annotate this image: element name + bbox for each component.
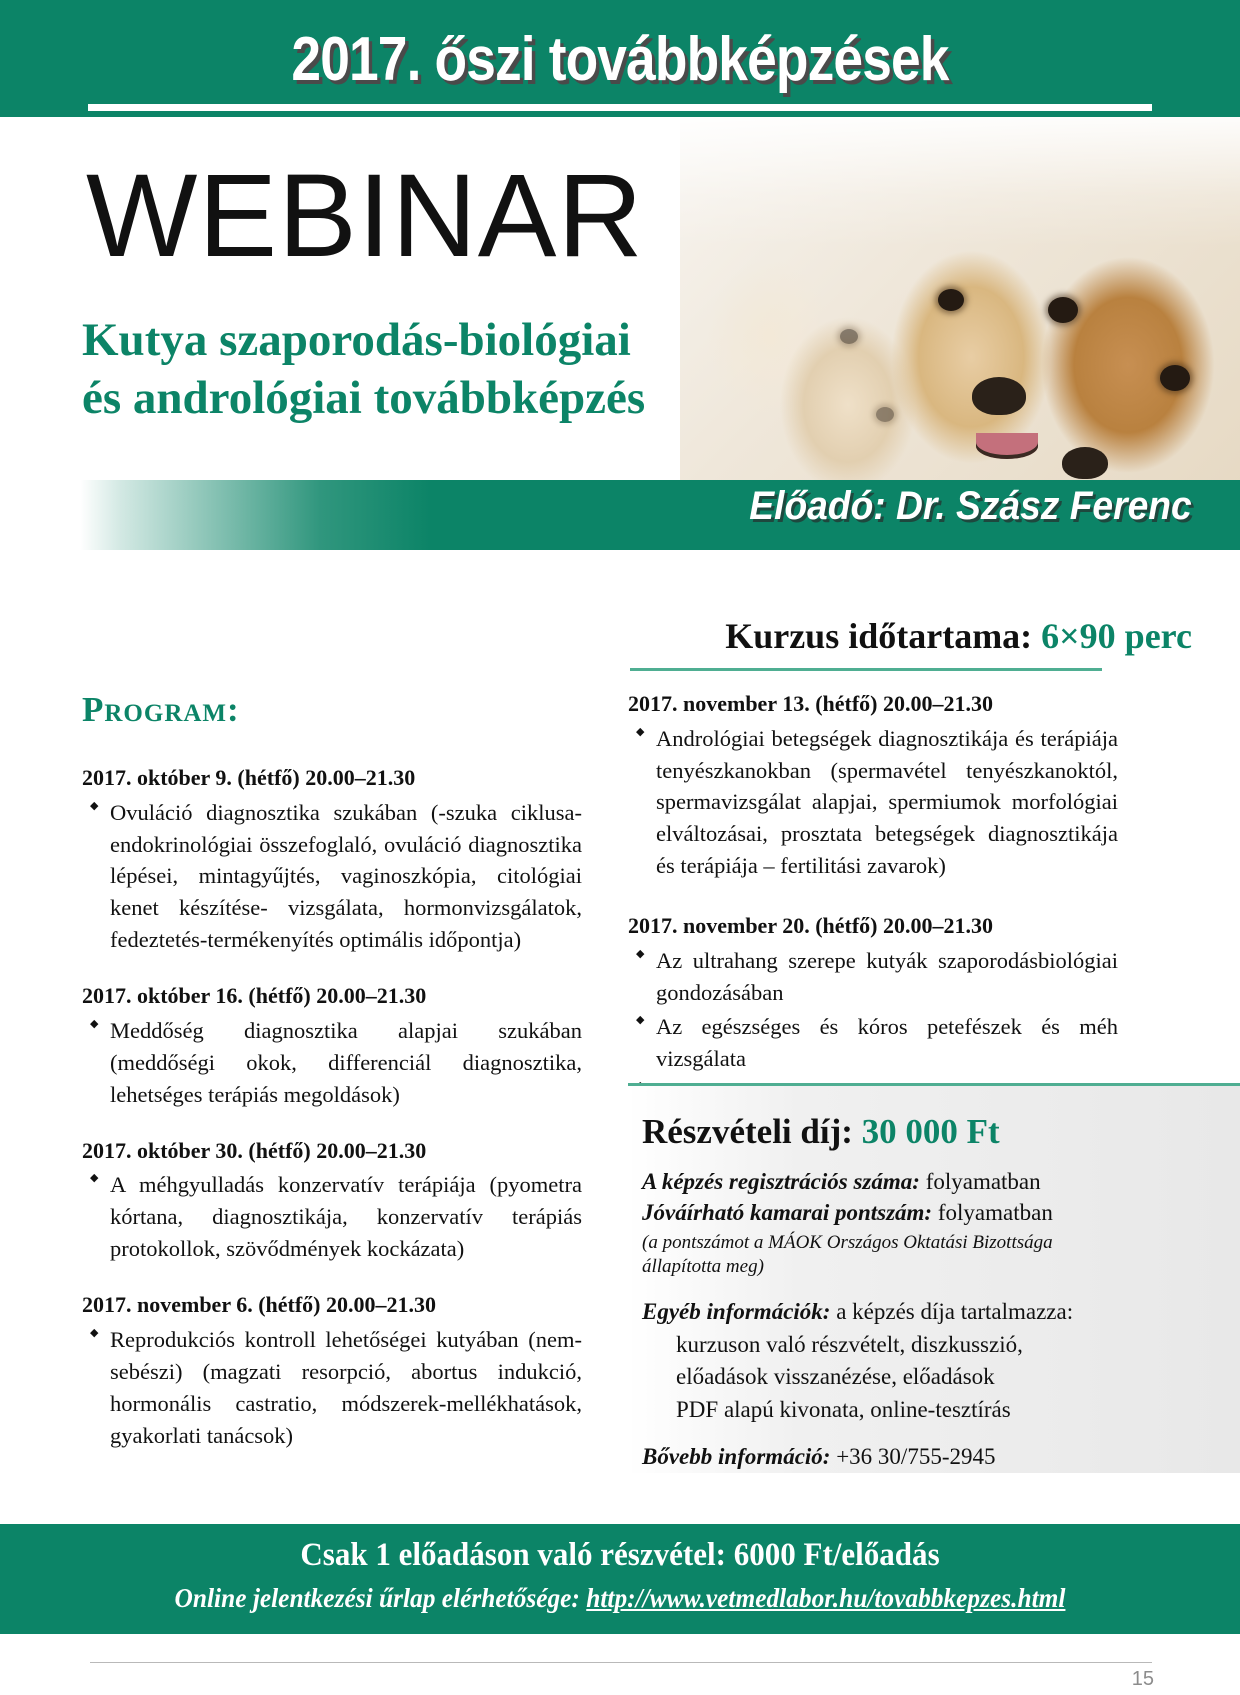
program-session: 2017. november 6. (hétfő) 20.00–21.30 Re… [82,1291,582,1451]
registration-form-link[interactable]: http://www.vetmedlabor.hu/tovabbkepzes.h… [586,1583,1065,1613]
program-session: 2017. október 9. (hétfő) 20.00–21.30 Ovu… [82,764,582,956]
chamber-points-note: (a pontszámot a MÁOK Országos Oktatási B… [642,1231,1240,1280]
contact-line: Bővebb információ: +36 30/755-2945 [642,1441,1240,1473]
registration-number-line: A képzés regisztrációs száma: folyamatba… [642,1166,1240,1197]
other-info-line2: előadások visszanézése, előadások [676,1361,1240,1394]
program-session: 2017. november 13. (hétfő) 20.00–21.30 A… [628,690,1118,882]
hero-subtitle-line2: és andrológiai továbbképzés [82,370,842,428]
fee-box: Részvételi díj: 30 000 Ft A képzés regis… [628,1083,1240,1473]
session-date: 2017. november 6. (hétfő) 20.00–21.30 [82,1291,582,1320]
other-info-value: a képzés díja tartalmazza: [836,1299,1073,1324]
top-banner-divider [88,104,1152,111]
registration-number-label: A képzés regisztrációs száma: [642,1169,920,1194]
course-duration-label: Kurzus időtartama: [725,616,1032,656]
chamber-points-note-line2: állapította meg) [642,1255,1240,1280]
session-bullet: Az egészséges és kóros petefészek és méh… [628,1011,1118,1075]
course-duration-value: 6×90 perc [1041,616,1192,656]
chamber-points-note-line1: (a pontszámot a MÁOK Országos Oktatási B… [642,1231,1240,1256]
fee-amount: 30 000 Ft [862,1112,1000,1151]
page-number: 15 [1132,1668,1154,1691]
session-bullets: Reprodukciós kontroll lehetőségei kutyáb… [82,1324,582,1452]
program-session: 2017. október 30. (hétfő) 20.00–21.30 A … [82,1137,582,1265]
session-bullets: Ovuláció diagnosztika szukában (-szuka c… [82,797,582,957]
speaker-name: Előadó: Dr. Szász Ferenc [750,484,1192,529]
chamber-points-line: Jóváírható kamarai pontszám: folyamatban [642,1197,1240,1228]
registration-number-value: folyamatban [926,1169,1041,1194]
hero-kicker: WEBINAR [86,157,644,275]
program-session: 2017. október 16. (hétfő) 20.00–21.30 Me… [82,982,582,1110]
program-left-column: Program: 2017. október 9. (hétfő) 20.00–… [82,690,582,1477]
course-duration: Kurzus időtartama: 6×90 perc [725,615,1192,657]
session-bullet: A méhgyulladás konzervatív terápiája (py… [82,1169,582,1265]
other-info-line3: PDF alapú kivonata, online-tesztírás [676,1394,1240,1427]
contact-phone: +36 30/755-2945 [836,1444,995,1469]
session-bullet: Reprodukciós kontroll lehetőségei kutyáb… [82,1324,582,1452]
session-date: 2017. november 20. (hétfő) 20.00–21.30 [628,912,1118,941]
other-info-line1: kurzuson való részvételt, diszkusszió, [676,1329,1240,1362]
fee-title-label: Részvételi díj: [642,1112,853,1151]
program-right-column: 2017. november 13. (hétfő) 20.00–21.30 A… [628,690,1118,1139]
chamber-points-value: folyamatban [938,1200,1053,1225]
duration-divider [630,668,1102,671]
fee-title: Részvételi díj: 30 000 Ft [642,1112,1240,1152]
photo-top-fade [680,117,1240,247]
registration-form-label: Online jelentkezési űrlap elérhetősége: [175,1583,580,1613]
top-banner: 2017. őszi továbbképzések [0,0,1240,117]
session-bullet: Ovuláció diagnosztika szukában (-szuka c… [82,797,582,957]
session-bullets: A méhgyulladás konzervatív terápiája (py… [82,1169,582,1265]
other-info-lines: kurzuson való részvételt, diszkusszió, e… [676,1329,1240,1427]
single-session-price: Csak 1 előadáson való részvétel: 6000 Ft… [37,1537,1203,1574]
page-title: 2017. őszi továbbképzések [87,24,1153,95]
session-bullet: Az ultrahang szerepe kutyák szaporodásbi… [628,945,1118,1009]
program-heading: Program: [82,690,582,730]
page-footer-divider [90,1662,1152,1663]
registration-form-line: Online jelentkezési űrlap elérhetősége: … [37,1583,1203,1614]
chamber-points-label: Jóváírható kamarai pontszám: [642,1200,932,1225]
session-date: 2017. október 30. (hétfő) 20.00–21.30 [82,1137,582,1166]
session-bullets: Andrológiai betegségek diagnosztikája és… [628,723,1118,883]
session-bullet: Meddőség diagnosztika alapjai szukában (… [82,1015,582,1111]
other-info-headline: Egyéb információk: a képzés díja tartalm… [642,1296,1240,1329]
session-bullet: Andrológiai betegségek diagnosztikája és… [628,723,1118,883]
session-date: 2017. október 16. (hétfő) 20.00–21.30 [82,982,582,1011]
hero-subtitle: Kutya szaporodás-biológiai és andrológia… [82,312,842,428]
other-info-block: Egyéb információk: a képzés díja tartalm… [642,1296,1240,1427]
session-date: 2017. november 13. (hétfő) 20.00–21.30 [628,690,1118,719]
session-bullets: Meddőség diagnosztika alapjai szukában (… [82,1015,582,1111]
session-date: 2017. október 9. (hétfő) 20.00–21.30 [82,764,582,793]
program-session: 2017. november 20. (hétfő) 20.00–21.30 A… [628,912,1118,1108]
hero-subtitle-line1: Kutya szaporodás-biológiai [82,312,842,370]
other-info-label: Egyéb információk: [642,1299,830,1324]
contact-label: Bővebb információ: [642,1444,830,1469]
